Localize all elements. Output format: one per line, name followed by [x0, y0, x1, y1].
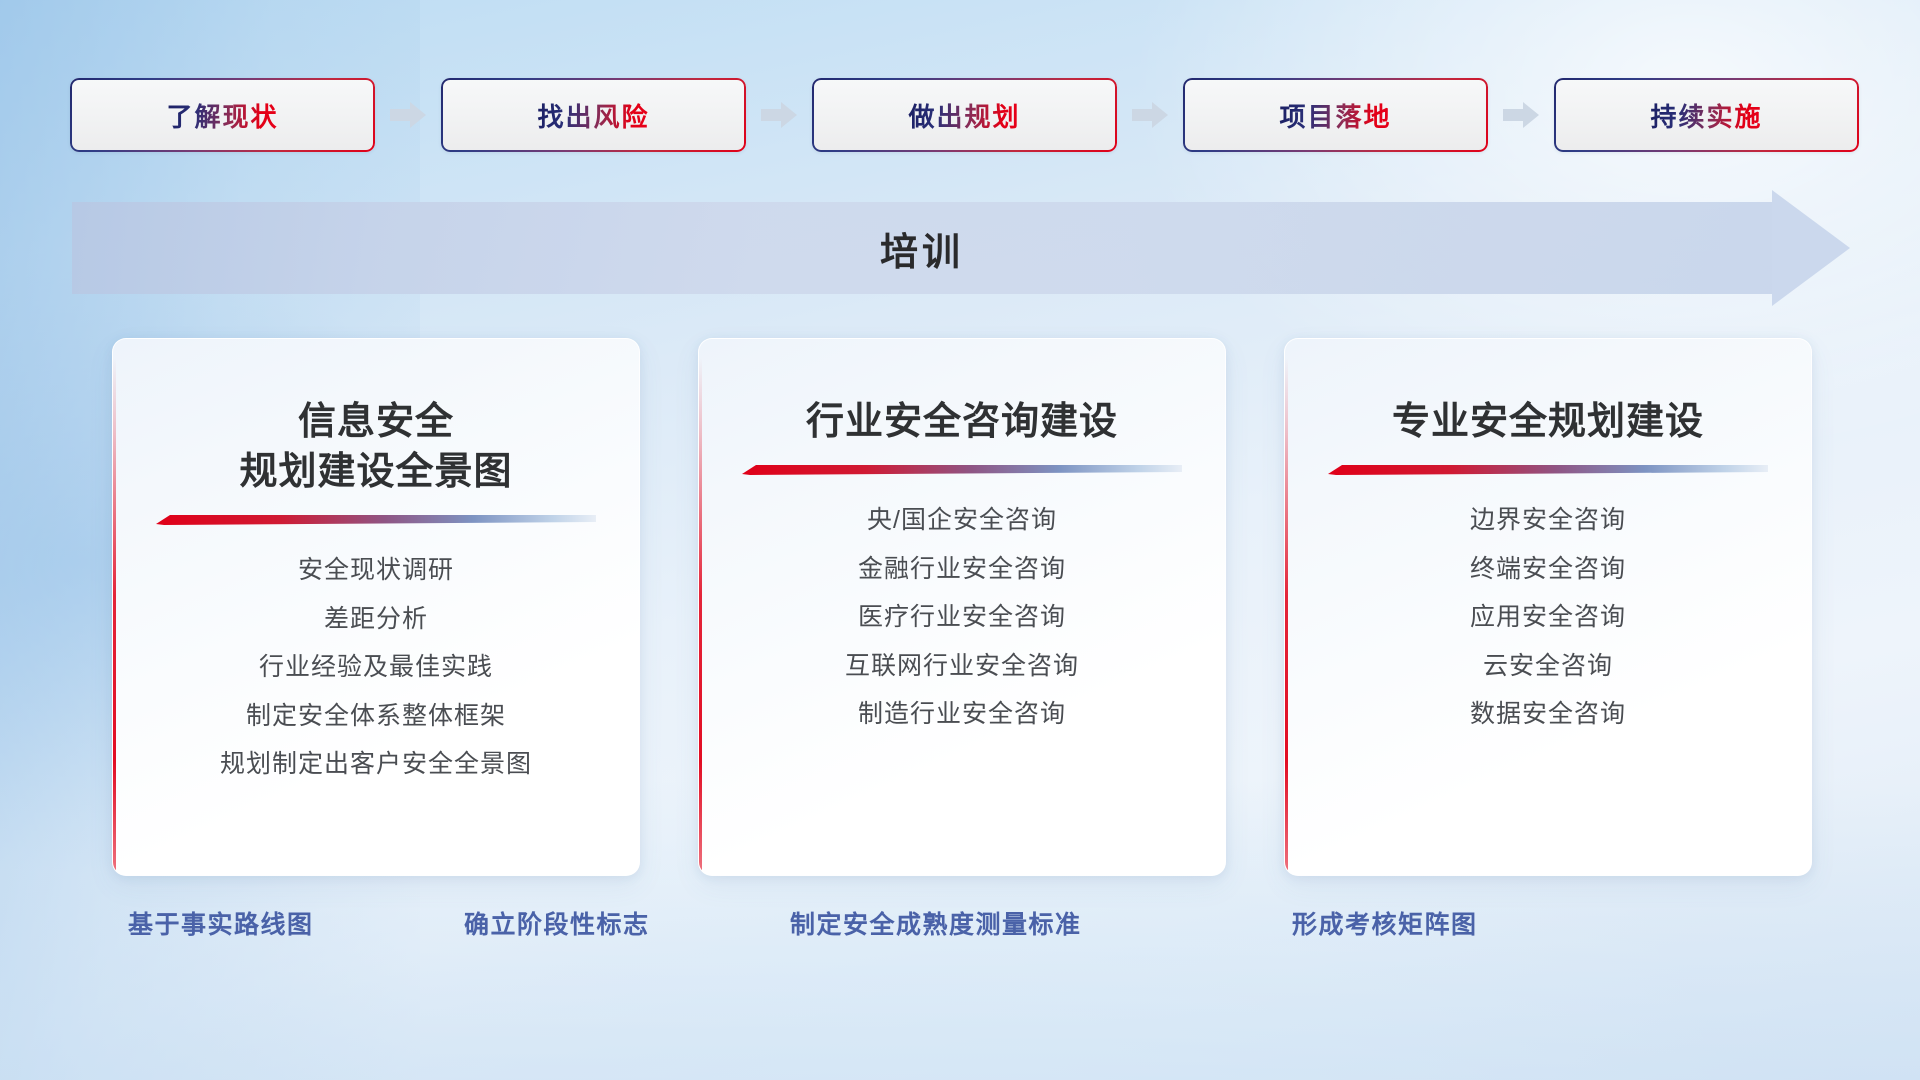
- list-item: 行业经验及最佳实践: [259, 649, 493, 687]
- card-row: 信息安全 规划建设全景图安全现状调研差距分析行业经验及最佳实践制定安全体系整体框…: [112, 338, 1812, 874]
- list-item: 金融行业安全咨询: [858, 551, 1066, 589]
- list-item: 差距分析: [324, 601, 428, 639]
- card-divider: [1328, 463, 1768, 476]
- training-banner: 培训: [72, 202, 1850, 294]
- card-list: 安全现状调研差距分析行业经验及最佳实践制定安全体系整体框架规划制定出客户安全全景…: [113, 552, 639, 784]
- process-step-2[interactable]: 找出风险: [441, 78, 746, 152]
- process-step-3[interactable]: 做出规划: [812, 78, 1117, 152]
- process-step-label: 找出风险: [537, 97, 649, 134]
- list-item: 医疗行业安全咨询: [858, 599, 1066, 637]
- process-step-4[interactable]: 项目落地: [1183, 78, 1488, 152]
- list-item: 互联网行业安全咨询: [845, 648, 1079, 686]
- process-step-5[interactable]: 持续实施: [1554, 78, 1859, 152]
- footer-label-4: 形成考核矩阵图: [1292, 905, 1478, 941]
- info-card-2[interactable]: 行业安全咨询建设央/国企安全咨询金融行业安全咨询医疗行业安全咨询互联网行业安全咨…: [698, 338, 1226, 876]
- banner-arrow-tip-icon: [1772, 190, 1850, 306]
- arrow-right-icon: [746, 95, 812, 135]
- card-title: 专业安全规划建设: [1318, 397, 1778, 447]
- footer-label-2: 确立阶段性标志: [464, 905, 650, 941]
- card-divider: [742, 463, 1182, 476]
- process-step-label: 了解现状: [166, 97, 278, 134]
- info-card-1[interactable]: 信息安全 规划建设全景图安全现状调研差距分析行业经验及最佳实践制定安全体系整体框…: [112, 338, 640, 876]
- process-flow: 了解现状找出风险做出规划项目落地持续实施: [70, 78, 1860, 152]
- card-title: 信息安全 规划建设全景图: [146, 397, 606, 497]
- banner-title: 培训: [72, 202, 1772, 294]
- list-item: 规划制定出客户安全全景图: [220, 746, 532, 784]
- list-item: 边界安全咨询: [1470, 502, 1626, 540]
- list-item: 应用安全咨询: [1470, 599, 1626, 637]
- card-divider: [156, 513, 596, 526]
- process-step-1[interactable]: 了解现状: [70, 78, 375, 152]
- card-list: 央/国企安全咨询金融行业安全咨询医疗行业安全咨询互联网行业安全咨询制造行业安全咨…: [699, 502, 1225, 734]
- list-item: 制定安全体系整体框架: [246, 698, 506, 736]
- arrow-right-icon: [375, 95, 441, 135]
- process-step-label: 做出规划: [908, 97, 1020, 134]
- slide-canvas: 了解现状找出风险做出规划项目落地持续实施 培训 信息安全 规划建设全景图安全现状…: [0, 0, 1920, 1080]
- footer-label-3: 制定安全成熟度测量标准: [790, 905, 1082, 941]
- list-item: 云安全咨询: [1483, 648, 1613, 686]
- arrow-right-icon: [1117, 95, 1183, 135]
- card-list: 边界安全咨询终端安全咨询应用安全咨询云安全咨询数据安全咨询: [1285, 502, 1811, 734]
- arrow-right-icon: [1488, 95, 1554, 135]
- footer-label-1: 基于事实路线图: [128, 905, 314, 941]
- footer-label-row: 基于事实路线图确立阶段性标志制定安全成熟度测量标准形成考核矩阵图: [0, 905, 1920, 951]
- list-item: 央/国企安全咨询: [867, 502, 1057, 540]
- info-card-3[interactable]: 专业安全规划建设边界安全咨询终端安全咨询应用安全咨询云安全咨询数据安全咨询: [1284, 338, 1812, 876]
- list-item: 终端安全咨询: [1470, 551, 1626, 589]
- list-item: 安全现状调研: [298, 552, 454, 590]
- process-step-label: 持续实施: [1650, 97, 1762, 134]
- list-item: 数据安全咨询: [1470, 696, 1626, 734]
- card-title: 行业安全咨询建设: [732, 397, 1192, 447]
- list-item: 制造行业安全咨询: [858, 696, 1066, 734]
- process-step-label: 项目落地: [1279, 97, 1391, 134]
